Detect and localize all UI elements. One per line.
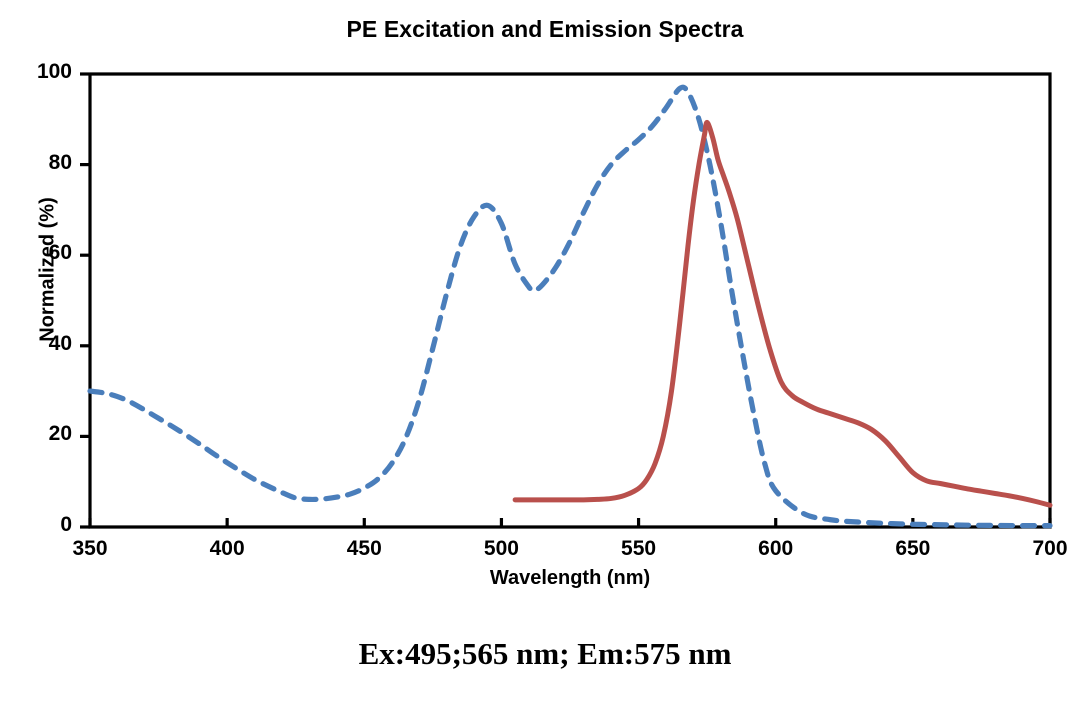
y-tick-label: 20 (12, 422, 72, 446)
figure: PE Excitation and Emission Spectra 02040… (0, 0, 1090, 704)
x-tick-label: 550 (604, 537, 674, 561)
y-tick-label: 100 (12, 60, 72, 84)
x-tick-label: 500 (466, 537, 536, 561)
figure-caption: Ex:495;565 nm; Em:575 nm (0, 636, 1090, 672)
data-series (90, 87, 1050, 526)
y-tick-label: 0 (12, 513, 72, 537)
x-tick-label: 600 (741, 537, 811, 561)
x-tick-label: 450 (329, 537, 399, 561)
x-tick-label: 400 (192, 537, 262, 561)
series-line-emission (515, 122, 1050, 505)
x-tick-label: 650 (878, 537, 948, 561)
series-line-excitation (90, 87, 1050, 526)
axis-frame (90, 74, 1050, 527)
x-tick-label: 700 (1015, 537, 1085, 561)
x-tick-label: 350 (55, 537, 125, 561)
x-axis-title: Wavelength (nm) (90, 567, 1050, 590)
y-axis-title: Normalized (%) (37, 130, 60, 410)
plot-border (90, 74, 1050, 527)
plot-canvas (0, 0, 1090, 704)
